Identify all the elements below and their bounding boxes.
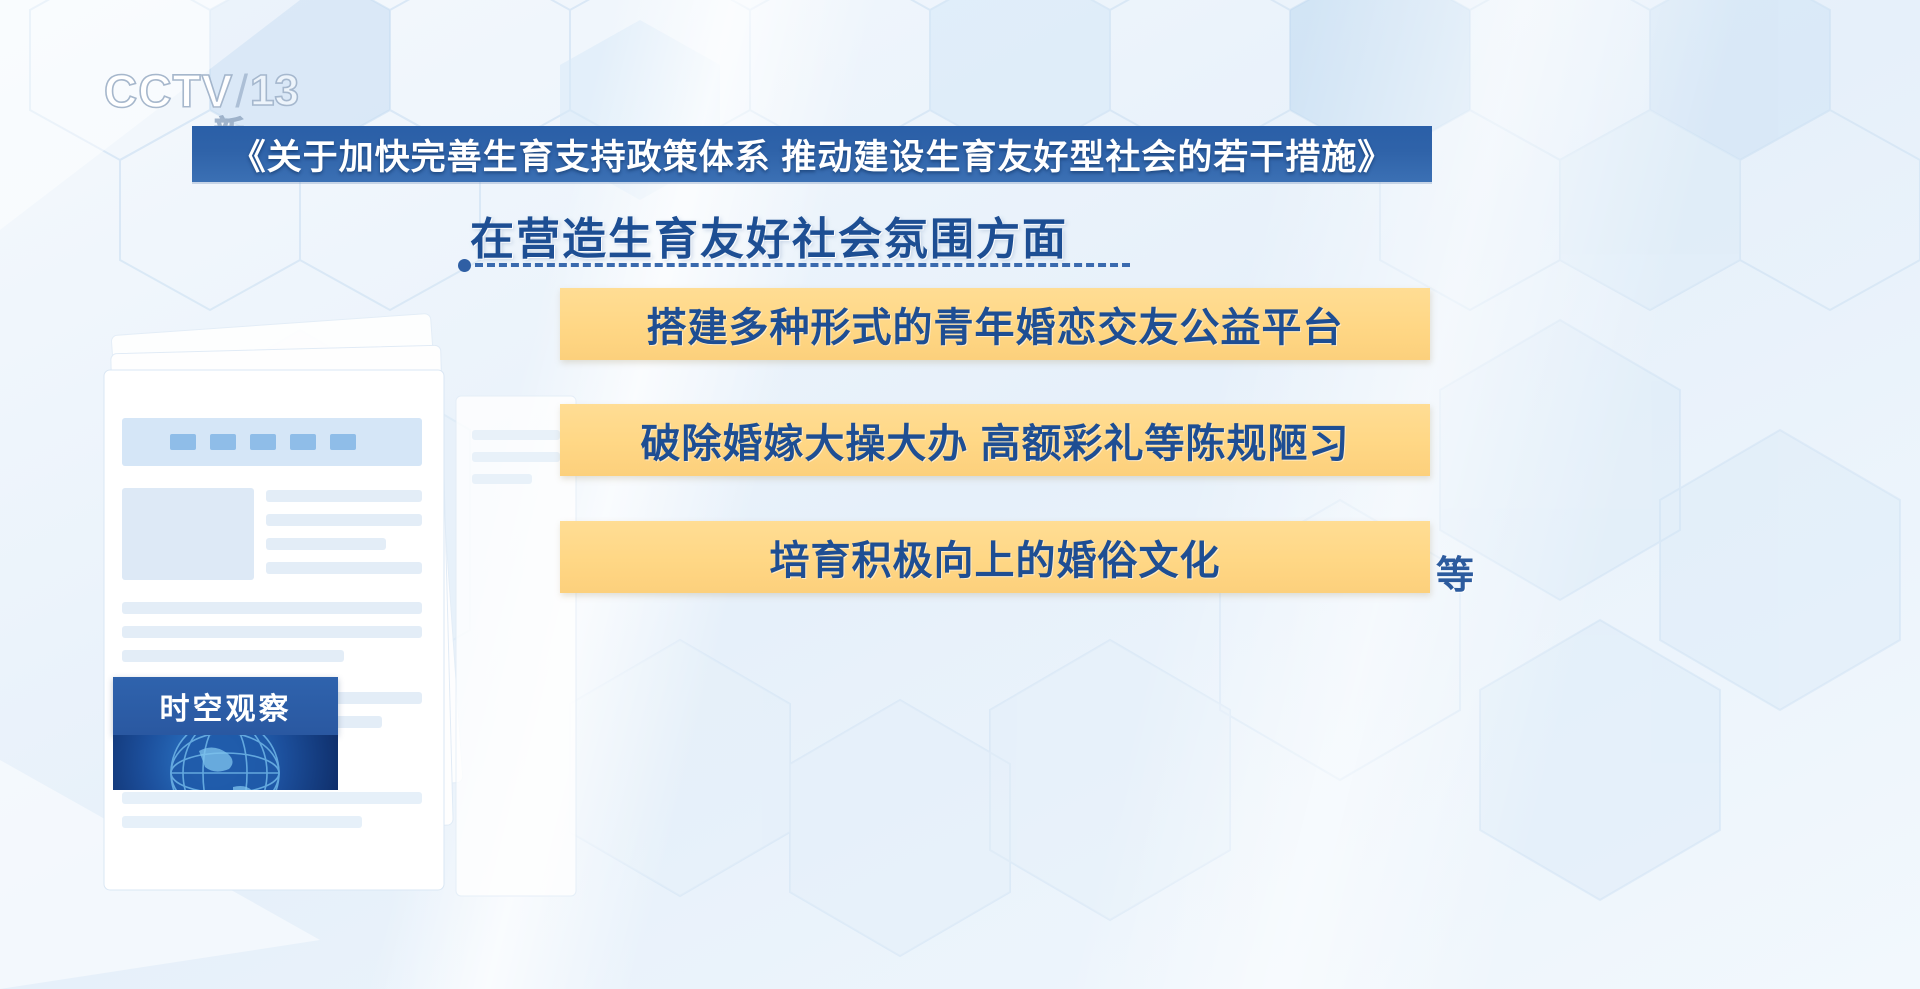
globe-icon: [113, 735, 338, 790]
program-name-text: 时空观察: [160, 684, 292, 728]
logo-slash: /: [235, 68, 248, 114]
broadcast-frame: CCTV / 13 新 《关于加快完善生育支持政策体系 推动建设生育友好型社会的…: [0, 0, 1920, 989]
cctv-logo: CCTV / 13: [104, 60, 334, 122]
measure-item: 培育积极向上的婚俗文化: [560, 521, 1430, 593]
trailing-etc-text: 等: [1436, 544, 1474, 599]
dotted-divider: [458, 258, 1130, 272]
logo-wordmark: CCTV: [104, 68, 233, 114]
logo-channel-number: 13: [250, 69, 299, 113]
measure-item: 破除婚嫁大操大办 高额彩礼等陈规陋习: [560, 404, 1430, 476]
measure-text: 培育积极向上的婚俗文化: [770, 528, 1221, 586]
measure-text: 搭建多种形式的青年婚恋交友公益平台: [647, 295, 1344, 353]
policy-title-text: 《关于加快完善生育支持政策体系 推动建设生育友好型社会的若干措施》: [231, 129, 1394, 180]
globe-graphic-strip: [113, 735, 338, 790]
program-name-bug: 时空观察: [113, 677, 338, 735]
measure-text: 破除婚嫁大操大办 高额彩礼等陈规陋习: [640, 411, 1349, 469]
document-illustration: [60, 300, 620, 980]
measure-item: 搭建多种形式的青年婚恋交友公益平台: [560, 288, 1430, 360]
bullet-dot-icon: [458, 259, 471, 272]
policy-title-banner: 《关于加快完善生育支持政策体系 推动建设生育友好型社会的若干措施》: [192, 126, 1432, 182]
dashed-line: [475, 263, 1130, 267]
